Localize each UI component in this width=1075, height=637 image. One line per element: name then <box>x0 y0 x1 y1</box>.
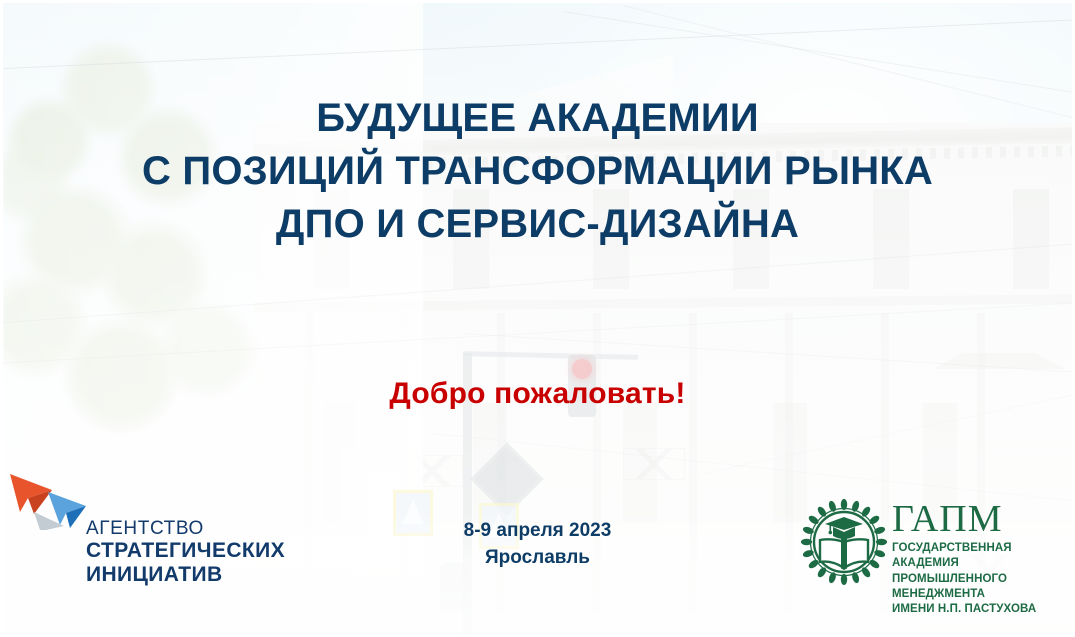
asi-line-2: СТРАТЕГИЧЕСКИХ <box>86 539 285 563</box>
title-line-1: БУДУЩЕЕ АКАДЕМИИ <box>0 92 1075 145</box>
laurel-wreath-graduation-cap-book-icon <box>800 498 888 586</box>
gapm-subtitle-line-2: ПРОМЫШЛЕННОГО МЕНЕДЖМЕНТА <box>892 572 1068 603</box>
gapm-abbreviation: ГАПМ <box>892 500 1068 538</box>
slide-content: БУДУЩЕЕ АКАДЕМИИ С ПОЗИЦИЙ ТРАНСФОРМАЦИИ… <box>0 0 1075 637</box>
gapm-subtitle-line-1: ГОСУДАРСТВЕННАЯ АКАДЕМИЯ <box>892 541 1068 572</box>
agency-for-strategic-initiatives-logo: АГЕНТСТВО СТРАТЕГИЧЕСКИХ ИНИЦИАТИВ <box>8 468 308 590</box>
presentation-slide: БУДУЩЕЕ АКАДЕМИИ С ПОЗИЦИЙ ТРАНСФОРМАЦИИ… <box>0 0 1075 637</box>
slide-title: БУДУЩЕЕ АКАДЕМИИ С ПОЗИЦИЙ ТРАНСФОРМАЦИИ… <box>0 92 1075 250</box>
asi-wordmark: АГЕНТСТВО СТРАТЕГИЧЕСКИХ ИНИЦИАТИВ <box>86 518 285 586</box>
asi-line-1: АГЕНТСТВО <box>86 518 285 539</box>
gapm-subtitle: ГОСУДАРСТВЕННАЯ АКАДЕМИЯ ПРОМЫШЛЕННОГО М… <box>892 541 1068 617</box>
gapm-academy-logo: ГАПМ ГОСУДАРСТВЕННАЯ АКАДЕМИЯ ПРОМЫШЛЕНН… <box>800 498 1068 592</box>
asi-line-3: ИНИЦИАТИВ <box>86 563 285 587</box>
gapm-wordmark: ГАПМ ГОСУДАРСТВЕННАЯ АКАДЕМИЯ ПРОМЫШЛЕНН… <box>892 500 1068 617</box>
title-line-2: С ПОЗИЦИЙ ТРАНСФОРМАЦИИ РЫНКА <box>0 145 1075 198</box>
title-line-3: ДПО И СЕРВИС-ДИЗАЙНА <box>0 198 1075 251</box>
gapm-subtitle-line-3: ИМЕНИ Н.П. ПАСТУХОВА <box>892 602 1068 617</box>
paper-plane-arrows-icon <box>8 468 88 530</box>
welcome-message: Добро пожаловать! <box>0 377 1075 411</box>
